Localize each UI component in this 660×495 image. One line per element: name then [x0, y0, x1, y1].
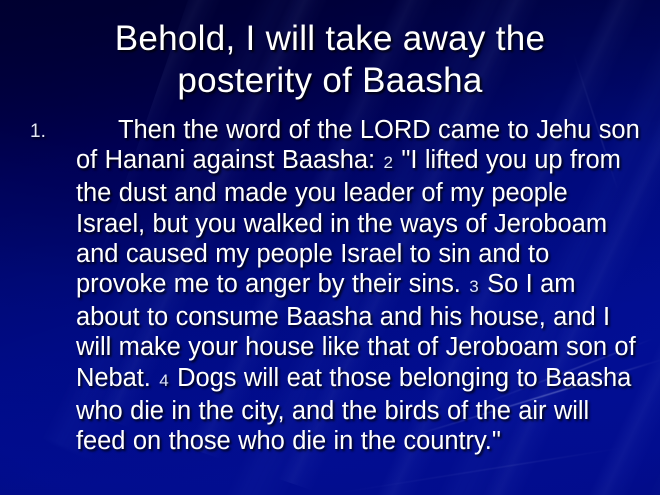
- slide-content: Behold, I will take away the posterity o…: [0, 0, 660, 495]
- scripture-paragraph: Then the word of the LORD came to Jehu s…: [76, 115, 640, 456]
- slide-title: Behold, I will take away the posterity o…: [28, 18, 632, 102]
- verse-number: 2: [383, 153, 394, 172]
- list-marker: 1.: [30, 115, 76, 147]
- presentation-slide: Behold, I will take away the posterity o…: [0, 0, 660, 495]
- verse-number: 4: [158, 371, 169, 390]
- verse-number: 3: [468, 277, 479, 296]
- slide-body: 1. Then the word of the LORD came to Jeh…: [30, 115, 640, 456]
